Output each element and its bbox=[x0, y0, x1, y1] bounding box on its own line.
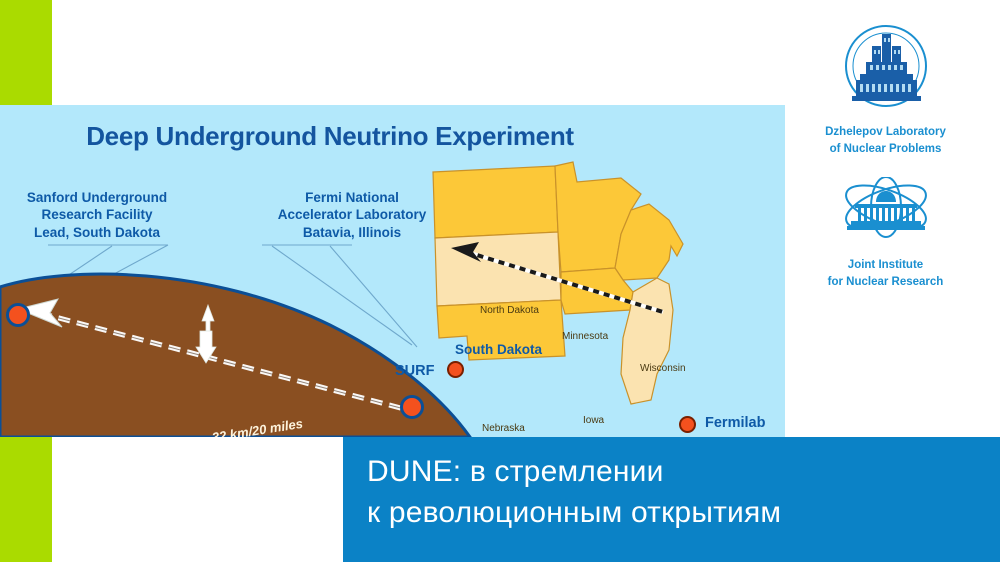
state-label-north-dakota: North Dakota bbox=[480, 305, 539, 316]
marker-surf-underground bbox=[6, 303, 30, 327]
marker-fermilab-underground bbox=[400, 395, 424, 419]
green-accent-bar-bottom bbox=[0, 437, 52, 562]
logo-caption-line-1: Joint Institute bbox=[793, 257, 978, 274]
slide-title: DUNE: в стремлении к революционным откры… bbox=[367, 452, 781, 534]
state-label-south-dakota: South Dakota bbox=[455, 342, 542, 357]
logo-caption-line-1: Dzhelepov Laboratory bbox=[793, 124, 978, 141]
slide-root: Deep Underground Neutrino Experiment San… bbox=[0, 0, 1000, 562]
us-midwest-map bbox=[425, 160, 775, 437]
dune-illustration-panel: Deep Underground Neutrino Experiment San… bbox=[0, 105, 785, 437]
state-label-minnesota: Minnesota bbox=[562, 331, 608, 342]
site-label-surf: SURF bbox=[395, 363, 434, 379]
jinr-atom-building-logo bbox=[831, 177, 941, 247]
logo-dlnp-block: Dzhelepov Laboratory of Nuclear Problems bbox=[793, 22, 978, 157]
map-marker-surf bbox=[447, 361, 464, 378]
logo-stack: Dzhelepov Laboratory of Nuclear Problems bbox=[793, 22, 978, 291]
logo-dlnp-caption: Dzhelepov Laboratory of Nuclear Problems bbox=[793, 124, 978, 157]
state-label-nebraska: Nebraska bbox=[482, 423, 525, 434]
green-accent-bar-top bbox=[0, 0, 52, 105]
logo-jinr-block: Joint Institute for Nuclear Research bbox=[793, 177, 978, 290]
state-label-iowa: Iowa bbox=[583, 415, 604, 426]
site-label-fermilab: Fermilab bbox=[705, 415, 765, 431]
title-banner: DUNE: в стремлении к революционным откры… bbox=[343, 437, 1000, 562]
dlnp-building-seal-logo bbox=[836, 22, 936, 114]
logo-caption-line-2: for Nuclear Research bbox=[793, 274, 978, 291]
state-label-wisconsin: Wisconsin bbox=[640, 363, 686, 374]
map-marker-fermilab bbox=[679, 416, 696, 433]
logo-caption-line-2: of Nuclear Problems bbox=[793, 141, 978, 158]
logo-jinr-caption: Joint Institute for Nuclear Research bbox=[793, 257, 978, 290]
